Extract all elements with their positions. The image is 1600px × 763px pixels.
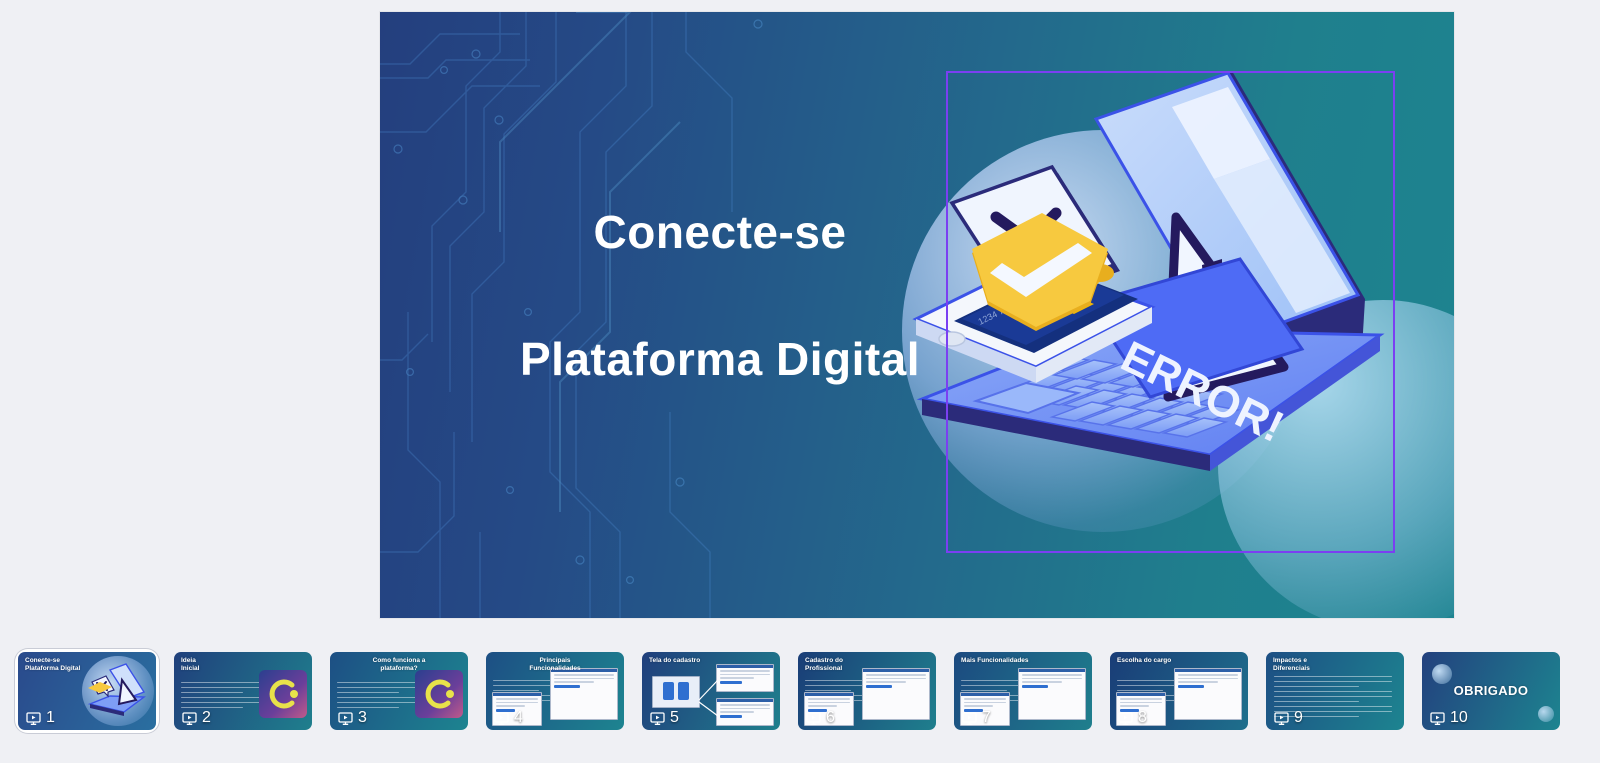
slide-number: 6 <box>826 710 835 726</box>
slide-number: 5 <box>670 710 679 726</box>
slide-number-badge: 6 <box>806 710 835 726</box>
slide-number: 2 <box>202 710 211 726</box>
slide-number-badge: 1 <box>26 710 55 726</box>
slide-thumbnail-title: IdeiaInicial <box>181 657 199 673</box>
slide-number-badge: 9 <box>1274 710 1303 726</box>
slide-number: 3 <box>358 710 367 726</box>
presentation-screen-icon <box>1430 712 1445 725</box>
slide-number: 7 <box>982 710 991 726</box>
slide-thumbnail-6[interactable]: Cadastro do Profissional 6 <box>798 652 936 730</box>
slide-canvas[interactable]: Conecte-se Plataforma Digital <box>380 12 1454 618</box>
slide-thumbnail-title: Tela do cadastro <box>649 657 700 665</box>
slide-number: 9 <box>1294 710 1303 726</box>
presentation-screen-icon <box>494 712 509 725</box>
slide-number: 8 <box>1138 710 1147 726</box>
slide-thumbnail-body[interactable]: Escolha do cargo 8 <box>1110 652 1248 730</box>
slide-thumbnail-body[interactable]: PrincipaisFuncionalidades 4 <box>486 652 624 730</box>
slide-thumbnail-body[interactable]: IdeiaInicial 2 <box>174 652 312 730</box>
slide-number-badge: 10 <box>1430 710 1468 726</box>
presentation-screen-icon <box>26 712 41 725</box>
slide-thumbnail-10[interactable]: OBRIGADO 10 <box>1422 652 1560 730</box>
slide-thumbnail-title: Cadastro do Profissional <box>805 657 877 673</box>
slide-number-badge: 4 <box>494 710 523 726</box>
slide-thumbnail-title: Escolha do cargo <box>1117 657 1171 665</box>
slide-thumbnail-body[interactable]: Impactos e Diferenciais 9 <box>1266 652 1404 730</box>
presentation-screen-icon <box>1118 712 1133 725</box>
slide-number: 4 <box>514 710 523 726</box>
slide-thumbnail-title: Como funciona aplataforma? <box>373 657 426 673</box>
slide-thumbnail-7[interactable]: Mais Funcionalidades 7 <box>954 652 1092 730</box>
slide-thumbnail-title: Mais Funcionalidades <box>961 657 1029 665</box>
slide-thumbnail-body[interactable]: Cadastro do Profissional 6 <box>798 652 936 730</box>
slide-thumbnail-4[interactable]: PrincipaisFuncionalidades 4 <box>486 652 624 730</box>
slide-thumbnail-2[interactable]: IdeiaInicial 2 <box>174 652 312 730</box>
slide-number: 10 <box>1450 710 1468 726</box>
presentation-screen-icon <box>806 712 821 725</box>
presentation-screen-icon <box>962 712 977 725</box>
slide-thumbnail-title: Impactos e Diferenciais <box>1273 657 1345 673</box>
slide-number-badge: 7 <box>962 710 991 726</box>
slide-thumbnail-5[interactable]: Tela do cadastro 5 <box>642 652 780 730</box>
slide-number: 1 <box>46 710 55 726</box>
slide-thumbnail-8[interactable]: Escolha do cargo 8 <box>1110 652 1248 730</box>
slide-thumbnail-3[interactable]: Como funciona aplataforma? 3 <box>330 652 468 730</box>
slide-number-badge: 5 <box>650 710 679 726</box>
slide-thumbnail-filmstrip[interactable]: Conecte-sePlataforma Digital 1 IdeiaI <box>0 636 1600 746</box>
slide-thumbnail-body[interactable]: Conecte-sePlataforma Digital 1 <box>18 652 156 730</box>
presentation-screen-icon <box>650 712 665 725</box>
slide-thumbnail-body[interactable]: Tela do cadastro 5 <box>642 652 780 730</box>
slide-number-badge: 3 <box>338 710 367 726</box>
slide-number-badge: 8 <box>1118 710 1147 726</box>
slide-thumbnail-title: OBRIGADO <box>1454 683 1529 699</box>
slide-thumbnail-title: Conecte-sePlataforma Digital <box>25 657 80 673</box>
laptop-error-payment-illustration[interactable]: ERROR! 1234 7654 3210 <box>910 67 1440 577</box>
presentation-screen-icon <box>338 712 353 725</box>
slide-thumbnail-body[interactable]: OBRIGADO 10 <box>1422 652 1560 730</box>
slide-number-badge: 2 <box>182 710 211 726</box>
slide-thumbnail-title: PrincipaisFuncionalidades <box>529 657 580 673</box>
slide-thumbnail-9[interactable]: Impactos e Diferenciais 9 <box>1266 652 1404 730</box>
presentation-screen-icon <box>1274 712 1289 725</box>
slide-thumbnail-body[interactable]: Como funciona aplataforma? 3 <box>330 652 468 730</box>
presentation-editor: Conecte-se Plataforma Digital <box>0 0 1600 763</box>
slide-thumbnail-1[interactable]: Conecte-sePlataforma Digital 1 <box>18 652 156 730</box>
presentation-screen-icon <box>182 712 197 725</box>
slide-thumbnail-body[interactable]: Mais Funcionalidades 7 <box>954 652 1092 730</box>
